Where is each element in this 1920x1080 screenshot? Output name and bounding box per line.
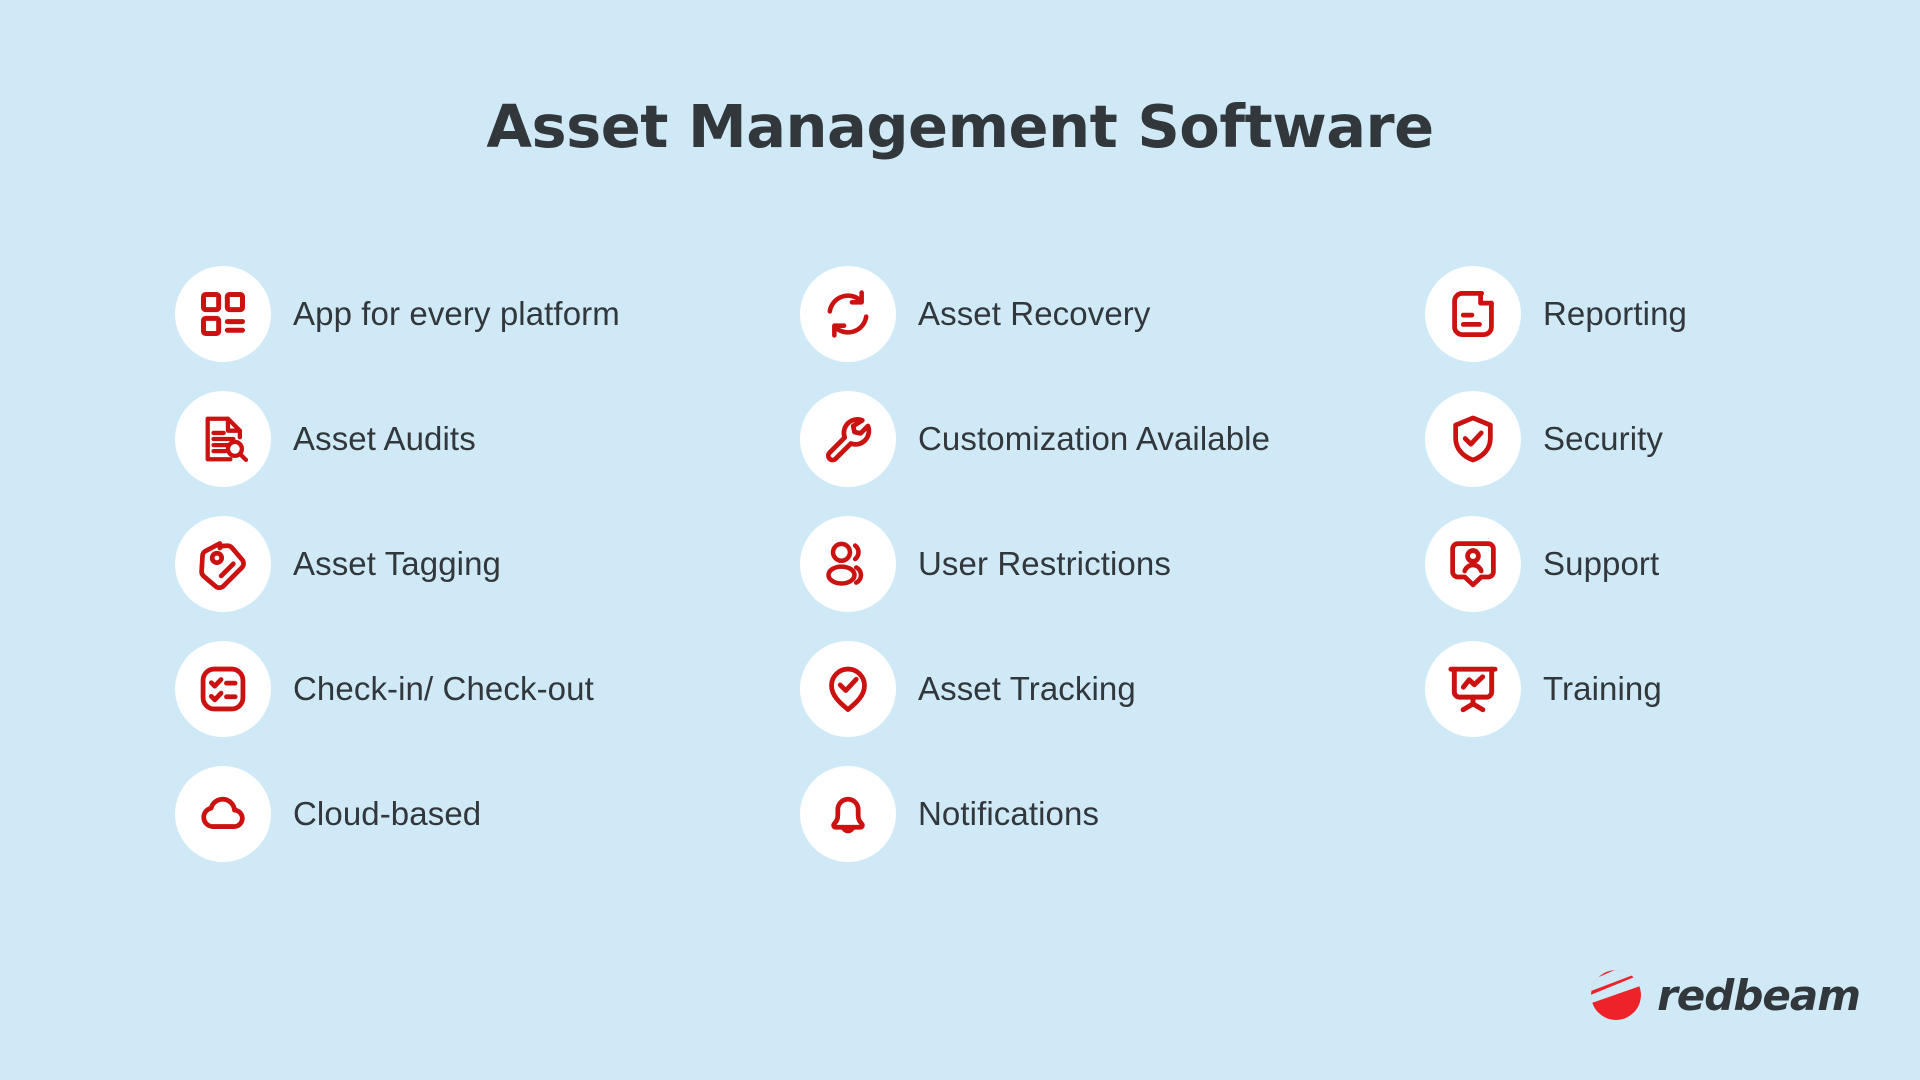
feature-label: Notifications — [918, 795, 1099, 833]
feature-label: Customization Available — [918, 420, 1270, 458]
wrench-icon — [800, 391, 896, 487]
feature-item-reporting[interactable]: Reporting — [1425, 264, 1775, 364]
logo-wordmark: redbeam — [1657, 971, 1860, 1020]
user-badge-icon — [1425, 516, 1521, 612]
feature-label: Support — [1543, 545, 1659, 583]
bell-icon — [800, 766, 896, 862]
shield-check-icon — [1425, 391, 1521, 487]
grid-layout-icon — [175, 266, 271, 362]
feature-label: Asset Tracking — [918, 670, 1136, 708]
feature-label: Reporting — [1543, 295, 1687, 333]
slide-canvas: Asset Management Software App for every … — [0, 0, 1920, 1080]
tag-icon — [175, 516, 271, 612]
location-pin-check-icon — [800, 641, 896, 737]
feature-item-cloud-based[interactable]: Cloud-based — [175, 764, 800, 864]
feature-item-user-restrictions[interactable]: User Restrictions — [800, 514, 1425, 614]
feature-label: Training — [1543, 670, 1662, 708]
refresh-circle-icon — [800, 266, 896, 362]
feature-label: User Restrictions — [918, 545, 1171, 583]
checklist-icon — [175, 641, 271, 737]
feature-item-app-for-every-platform[interactable]: App for every platform — [175, 264, 800, 364]
presentation-chart-icon — [1425, 641, 1521, 737]
redbeam-circle-logo — [1589, 968, 1643, 1022]
feature-label: App for every platform — [293, 295, 620, 333]
users-group-icon — [800, 516, 896, 612]
feature-item-asset-recovery[interactable]: Asset Recovery — [800, 264, 1425, 364]
feature-item-notifications[interactable]: Notifications — [800, 764, 1425, 864]
redbeam-logo[interactable]: redbeam — [1589, 968, 1860, 1022]
feature-item-training[interactable]: Training — [1425, 639, 1775, 739]
feature-item-asset-tagging[interactable]: Asset Tagging — [175, 514, 800, 614]
feature-item-security[interactable]: Security — [1425, 389, 1775, 489]
feature-label: Asset Tagging — [293, 545, 501, 583]
feature-label: Asset Recovery — [918, 295, 1150, 333]
document-search-icon — [175, 391, 271, 487]
feature-item-asset-audits[interactable]: Asset Audits — [175, 389, 800, 489]
feature-item-customization-available[interactable]: Customization Available — [800, 389, 1425, 489]
page-title: Asset Management Software — [0, 92, 1920, 161]
feature-item-support[interactable]: Support — [1425, 514, 1775, 614]
cloud-icon — [175, 766, 271, 862]
feature-label: Asset Audits — [293, 420, 476, 458]
feature-label: Check-in/ Check-out — [293, 670, 594, 708]
report-document-icon — [1425, 266, 1521, 362]
feature-label: Cloud-based — [293, 795, 481, 833]
feature-grid: App for every platform Asset Recovery — [175, 264, 1775, 889]
feature-item-asset-tracking[interactable]: Asset Tracking — [800, 639, 1425, 739]
feature-item-check-in-check-out[interactable]: Check-in/ Check-out — [175, 639, 800, 739]
feature-label: Security — [1543, 420, 1663, 458]
